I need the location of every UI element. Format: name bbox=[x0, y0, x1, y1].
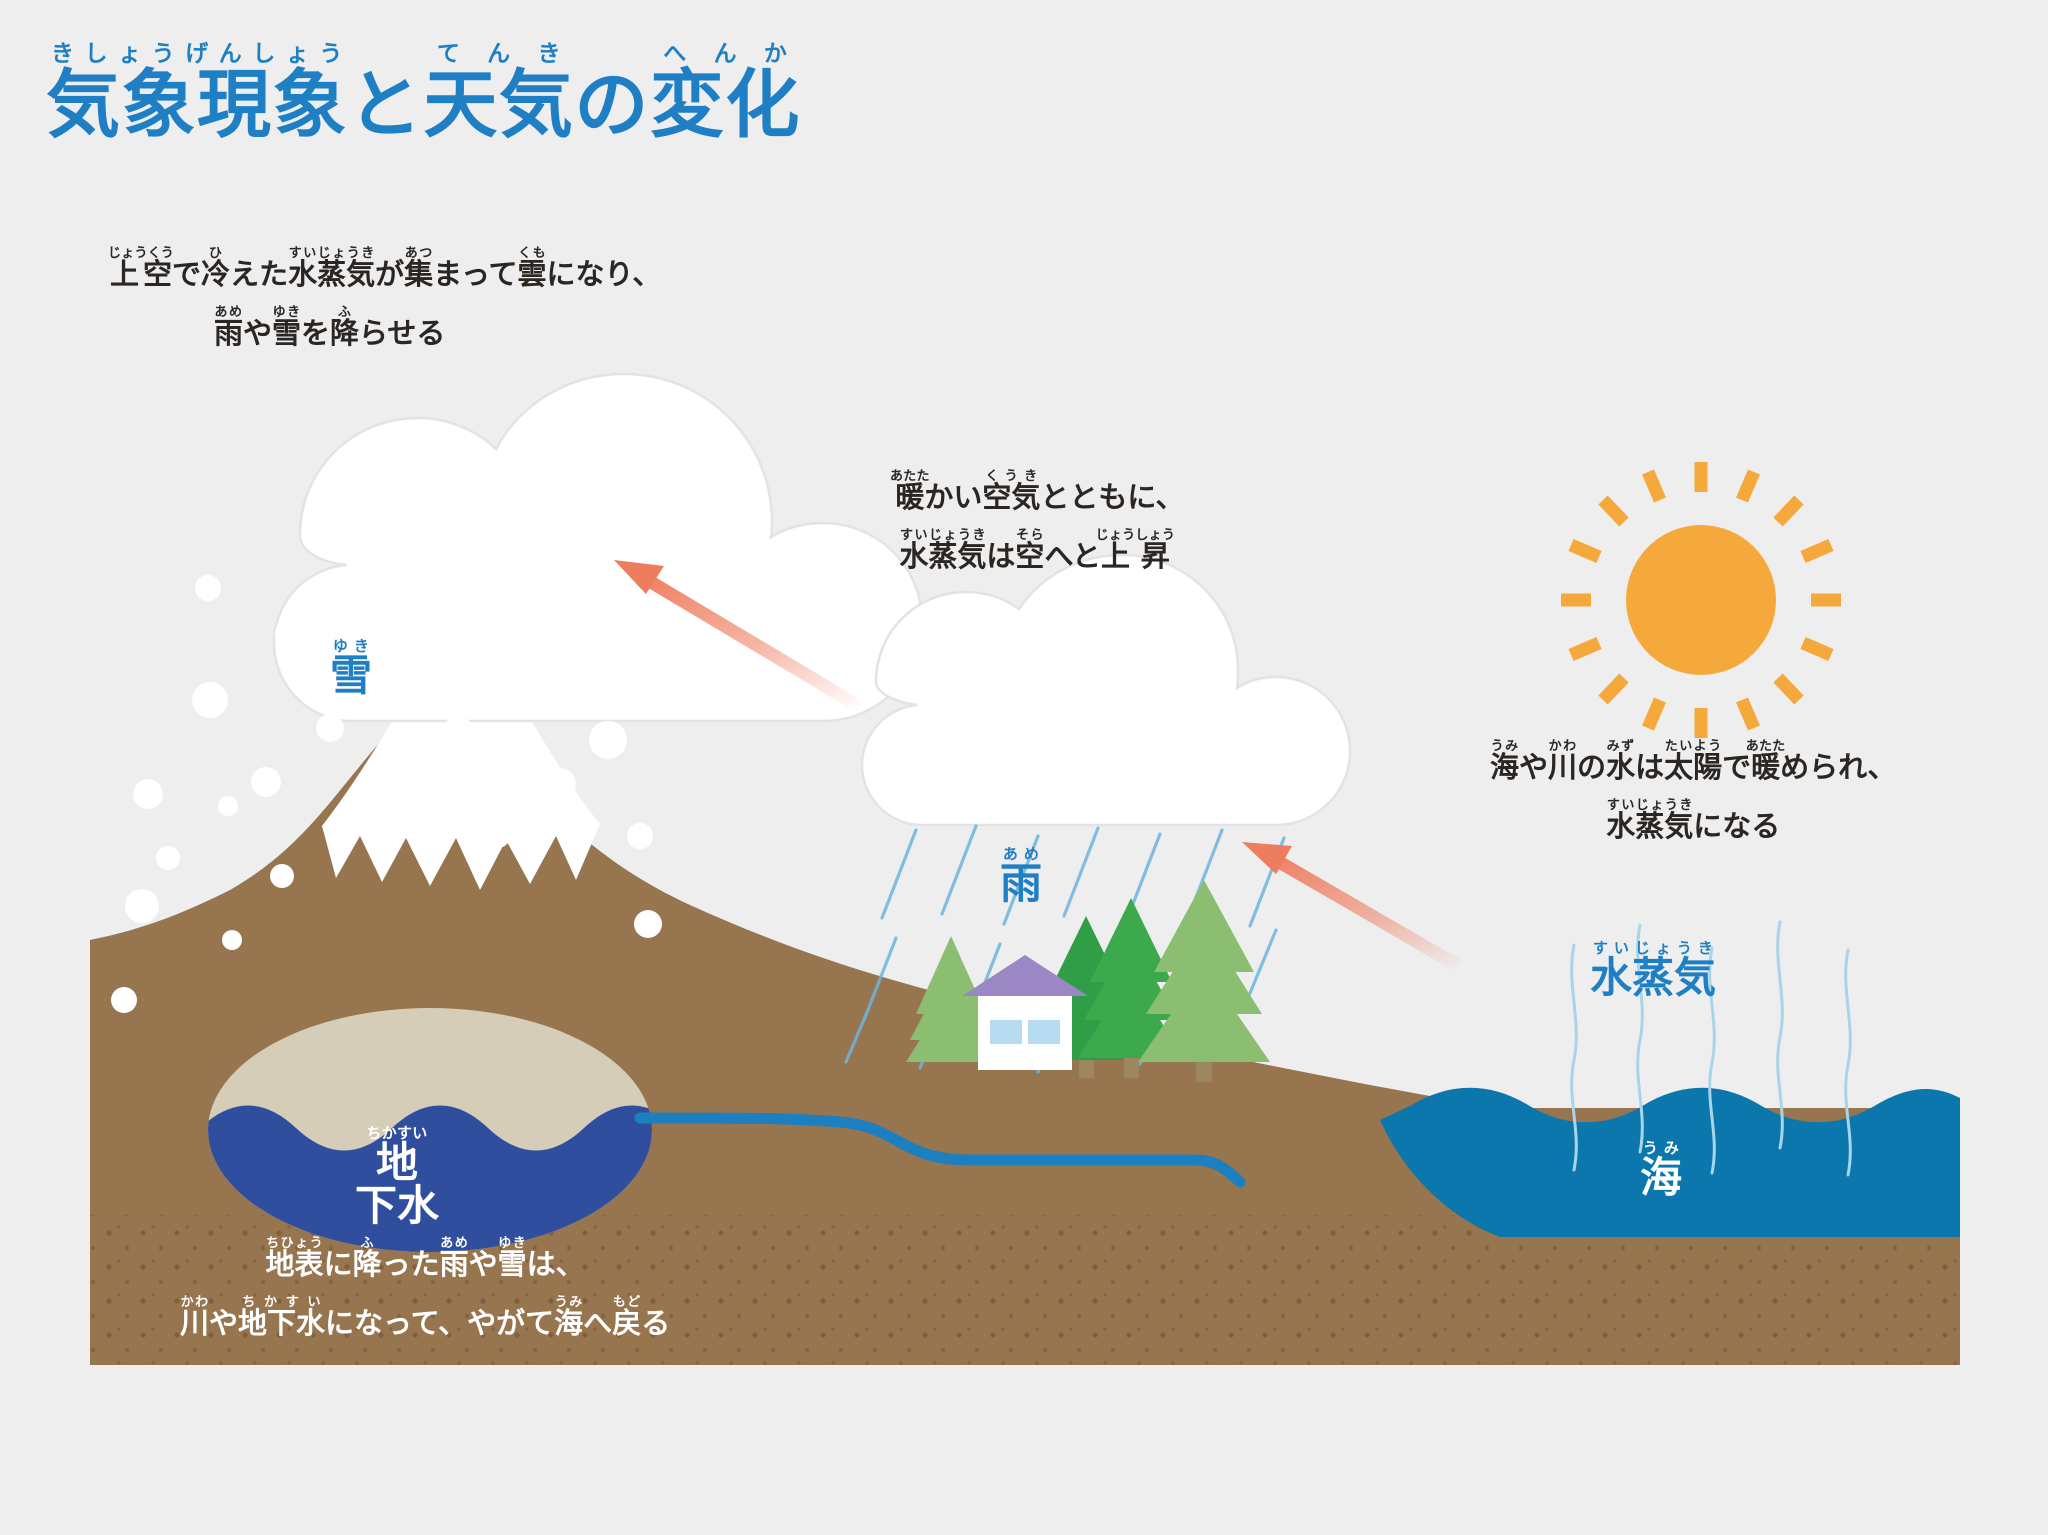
title-seg-3: 天気てんき bbox=[423, 63, 574, 146]
house-window-right bbox=[1028, 1020, 1060, 1044]
caption-vapor-rise: 暖あたたかい空気くうきとともに、 水蒸気すいじょうきは空そらへと上昇じょうしょう bbox=[890, 468, 1185, 585]
caption-cloud-line2: 雨あめや雪ゆきを降ふらせる bbox=[108, 304, 661, 363]
caption-sun-line1: 海うみや川かわの水みずは太陽たいようで暖あたためられ、 bbox=[1490, 738, 1896, 797]
caption-cloud-formation: 上空じょうくうで冷ひえた水蒸気すいじょうきが集あつまって雲くもになり、 雨あめや… bbox=[108, 245, 661, 362]
title-seg-4: の bbox=[574, 63, 649, 146]
diagram-canvas: 気象現象きしょうげんしょうと天気てんきの変化へんか 上空じょうくうで冷ひえた水蒸… bbox=[0, 0, 2048, 1535]
sun-disc bbox=[1626, 525, 1776, 675]
rain-cloud bbox=[862, 555, 1350, 825]
village-group bbox=[906, 880, 1270, 1082]
label-rain: 雨あめ bbox=[1000, 846, 1042, 908]
page-title-block: 気象現象きしょうげんしょうと天気てんきの変化へんか bbox=[46, 40, 801, 142]
title-seg-2: と bbox=[348, 63, 423, 146]
caption-sun-line2: 水蒸気すいじょうきになる bbox=[1490, 797, 1896, 856]
arrow-sea-to-cloud bbox=[1242, 842, 1462, 968]
caption-ground-line1: 地表ちひょうに降ふった雨あめや雪ゆきは、 bbox=[180, 1235, 670, 1294]
caption-rise-line2: 水蒸気すいじょうきは空そらへと上昇じょうしょう bbox=[890, 527, 1185, 586]
label-water-vapor: 水蒸気すいじょうき bbox=[1590, 940, 1716, 1002]
page-title: 気象現象きしょうげんしょうと天気てんきの変化へんか bbox=[46, 40, 801, 142]
caption-runoff: 地表ちひょうに降ふった雨あめや雪ゆきは、 川かわや地下水ちかすいになって、やがて… bbox=[180, 1235, 670, 1352]
label-groundwater: 地ちかすい 下水 bbox=[355, 1125, 439, 1228]
title-seg-5: 変化へんか bbox=[650, 63, 801, 146]
caption-ground-line2: 川かわや地下水ちかすいになって、やがて海うみへ戻もどる bbox=[180, 1294, 670, 1353]
title-seg-1: 気象現象きしょうげんしょう bbox=[46, 63, 348, 146]
label-sea: 海うみ bbox=[1640, 1140, 1682, 1202]
label-snow: 雪ゆき bbox=[330, 638, 372, 700]
label-groundwater-line2: 下水 bbox=[355, 1185, 439, 1228]
caption-cloud-line1: 上空じょうくうで冷ひえた水蒸気すいじょうきが集あつまって雲くもになり、 bbox=[108, 245, 661, 304]
house-window-left bbox=[990, 1020, 1022, 1044]
caption-evaporation: 海うみや川かわの水みずは太陽たいようで暖あたためられ、 水蒸気すいじょうきになる bbox=[1490, 738, 1896, 855]
caption-rise-line1: 暖あたたかい空気くうきとともに、 bbox=[890, 468, 1185, 527]
sun bbox=[1561, 462, 1841, 738]
label-groundwater-line1: 地ちかすい bbox=[355, 1125, 439, 1185]
